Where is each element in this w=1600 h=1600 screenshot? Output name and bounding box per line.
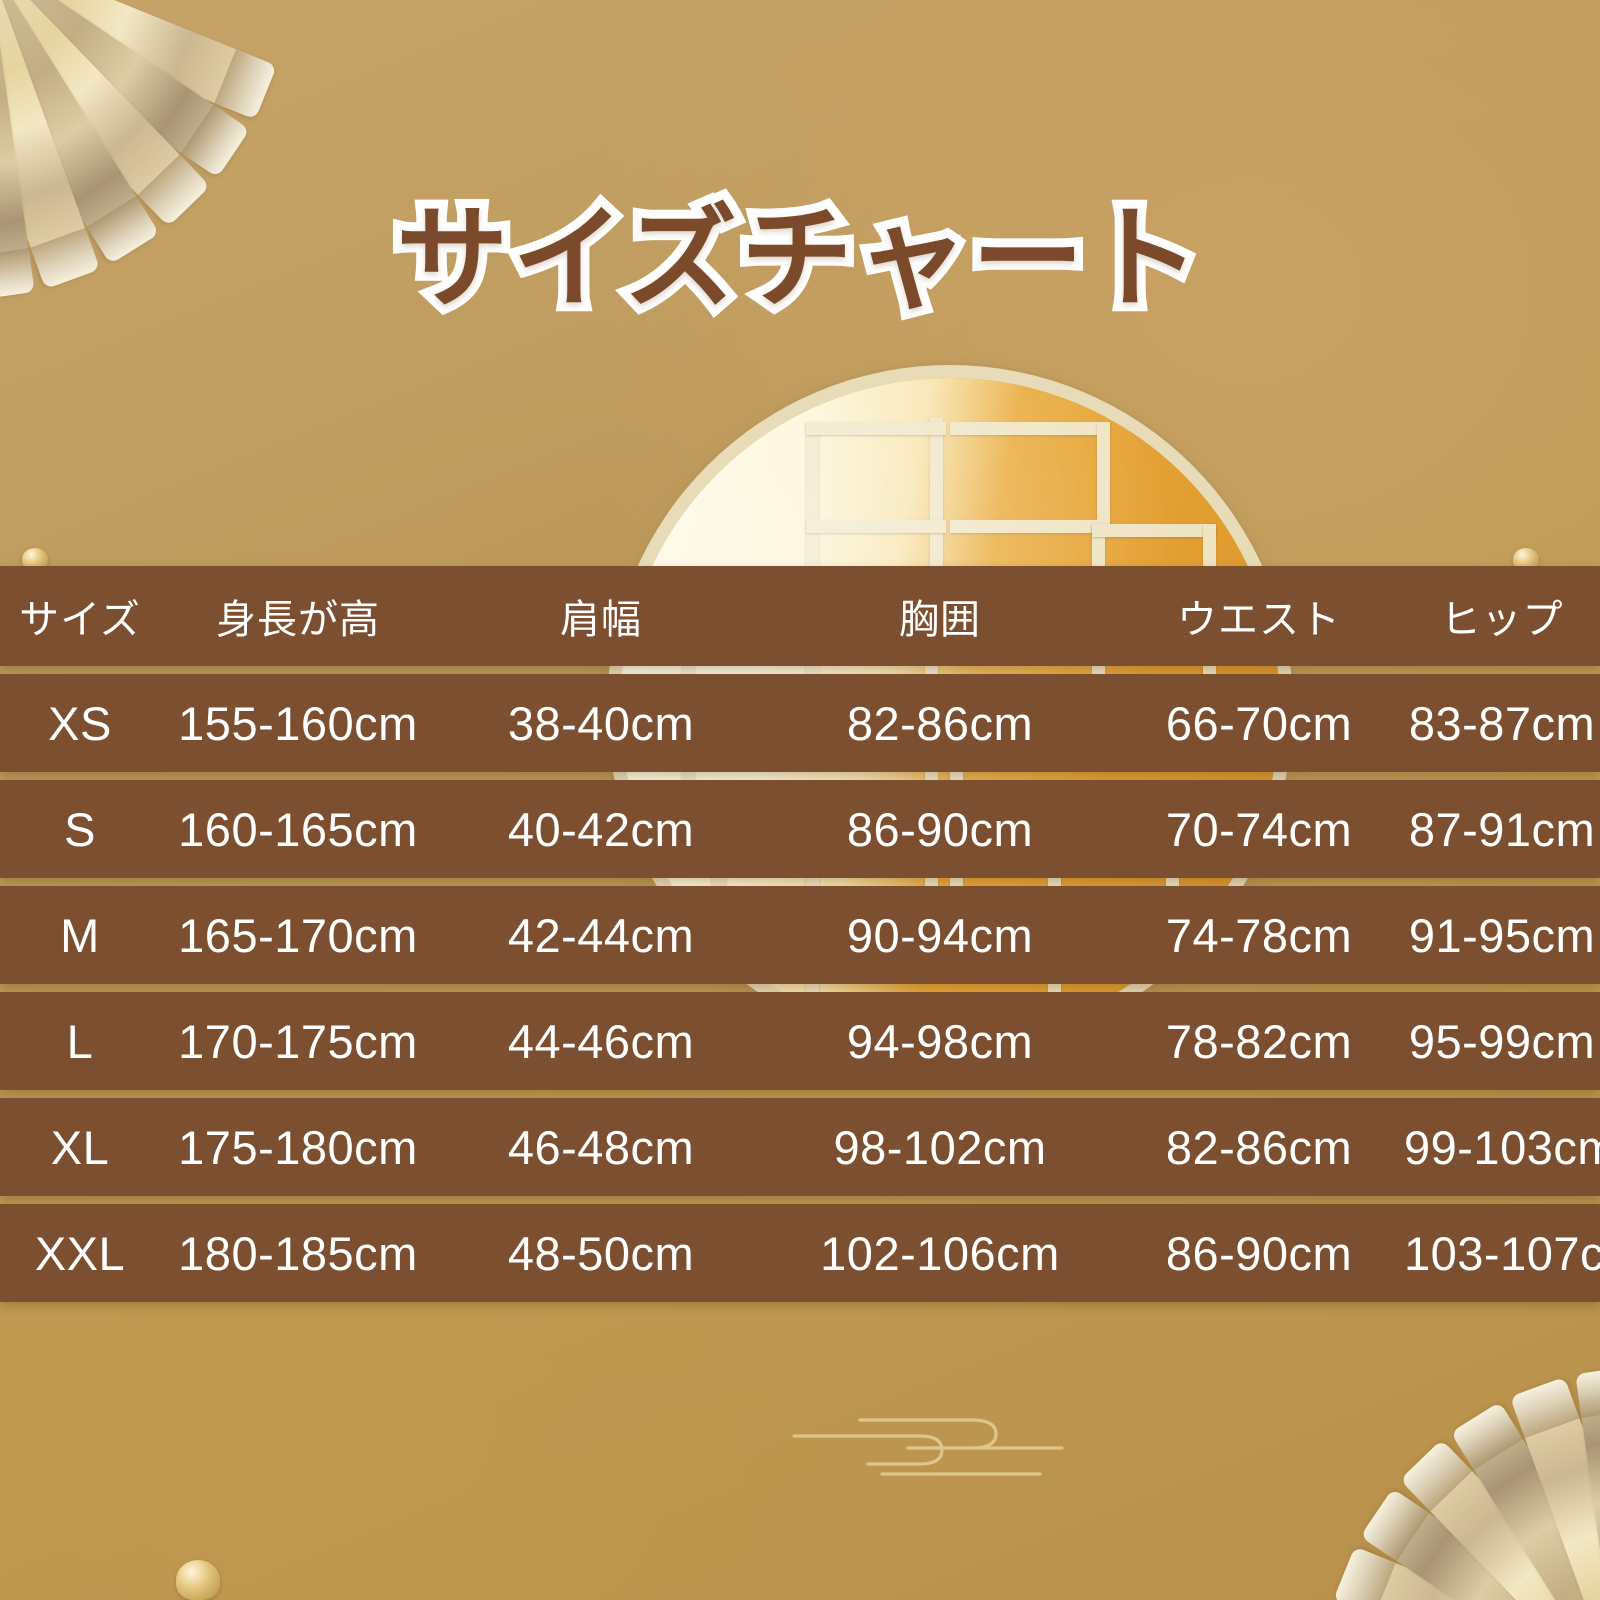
cell-chest: 86-90cm: [766, 802, 1114, 857]
cell-height: 160-165cm: [160, 802, 436, 857]
size-chart-table: サイズ 身長が高 肩幅 胸囲 ウエスト ヒップ XS 155-160cm 38-…: [0, 566, 1600, 1302]
cell-size: XL: [0, 1120, 160, 1175]
table-row: M 165-170cm 42-44cm 90-94cm 74-78cm 91-9…: [0, 886, 1600, 984]
table-row: XS 155-160cm 38-40cm 82-86cm 66-70cm 83-…: [0, 674, 1600, 772]
cell-shoulder: 48-50cm: [436, 1226, 766, 1281]
table-row: L 170-175cm 44-46cm 94-98cm 78-82cm 95-9…: [0, 992, 1600, 1090]
cell-height: 155-160cm: [160, 696, 436, 751]
cell-chest: 90-94cm: [766, 908, 1114, 963]
cell-hip: 91-95cm: [1404, 908, 1600, 963]
cell-waist: 82-86cm: [1114, 1120, 1404, 1175]
cell-hip: 99-103cm: [1404, 1120, 1600, 1175]
cell-chest: 98-102cm: [766, 1120, 1114, 1175]
cell-shoulder: 40-42cm: [436, 802, 766, 857]
cell-waist: 78-82cm: [1114, 1014, 1404, 1069]
auspicious-cloud-icon: [790, 1378, 1070, 1488]
column-header-shoulder: 肩幅: [436, 587, 766, 645]
cell-shoulder: 42-44cm: [436, 908, 766, 963]
cell-hip: 103-107cm: [1404, 1226, 1600, 1281]
column-header-size: サイズ: [0, 587, 160, 645]
cell-waist: 74-78cm: [1114, 908, 1404, 963]
cell-waist: 70-74cm: [1114, 802, 1404, 857]
cell-size: S: [0, 802, 160, 857]
cell-shoulder: 38-40cm: [436, 696, 766, 751]
table-row: S 160-165cm 40-42cm 86-90cm 70-74cm 87-9…: [0, 780, 1600, 878]
gold-bead-icon: [176, 1560, 220, 1600]
size-chart-poster: サイズチャート サイズ 身長が高 肩幅 胸囲 ウエスト ヒップ XS 155-1…: [0, 0, 1600, 1600]
column-header-hip: ヒップ: [1404, 587, 1600, 645]
cell-chest: 102-106cm: [766, 1226, 1114, 1281]
cell-chest: 94-98cm: [766, 1014, 1114, 1069]
page-title: サイズチャート: [0, 168, 1600, 330]
cell-hip: 83-87cm: [1404, 696, 1600, 751]
column-header-height: 身長が高: [160, 587, 436, 645]
cell-height: 165-170cm: [160, 908, 436, 963]
cell-chest: 82-86cm: [766, 696, 1114, 751]
table-row: XL 175-180cm 46-48cm 98-102cm 82-86cm 99…: [0, 1098, 1600, 1196]
cell-height: 175-180cm: [160, 1120, 436, 1175]
cell-size: L: [0, 1014, 160, 1069]
cell-waist: 86-90cm: [1114, 1226, 1404, 1281]
cell-hip: 95-99cm: [1404, 1014, 1600, 1069]
cell-height: 180-185cm: [160, 1226, 436, 1281]
cell-size: M: [0, 908, 160, 963]
cell-size: XS: [0, 696, 160, 751]
cell-hip: 87-91cm: [1404, 802, 1600, 857]
cell-shoulder: 44-46cm: [436, 1014, 766, 1069]
column-header-chest: 胸囲: [766, 587, 1114, 645]
table-row: XXL 180-185cm 48-50cm 102-106cm 86-90cm …: [0, 1204, 1600, 1302]
cell-height: 170-175cm: [160, 1014, 436, 1069]
cell-waist: 66-70cm: [1114, 696, 1404, 751]
table-header-row: サイズ 身長が高 肩幅 胸囲 ウエスト ヒップ: [0, 566, 1600, 666]
cell-size: XXL: [0, 1226, 160, 1281]
cell-shoulder: 46-48cm: [436, 1120, 766, 1175]
column-header-waist: ウエスト: [1114, 587, 1404, 645]
